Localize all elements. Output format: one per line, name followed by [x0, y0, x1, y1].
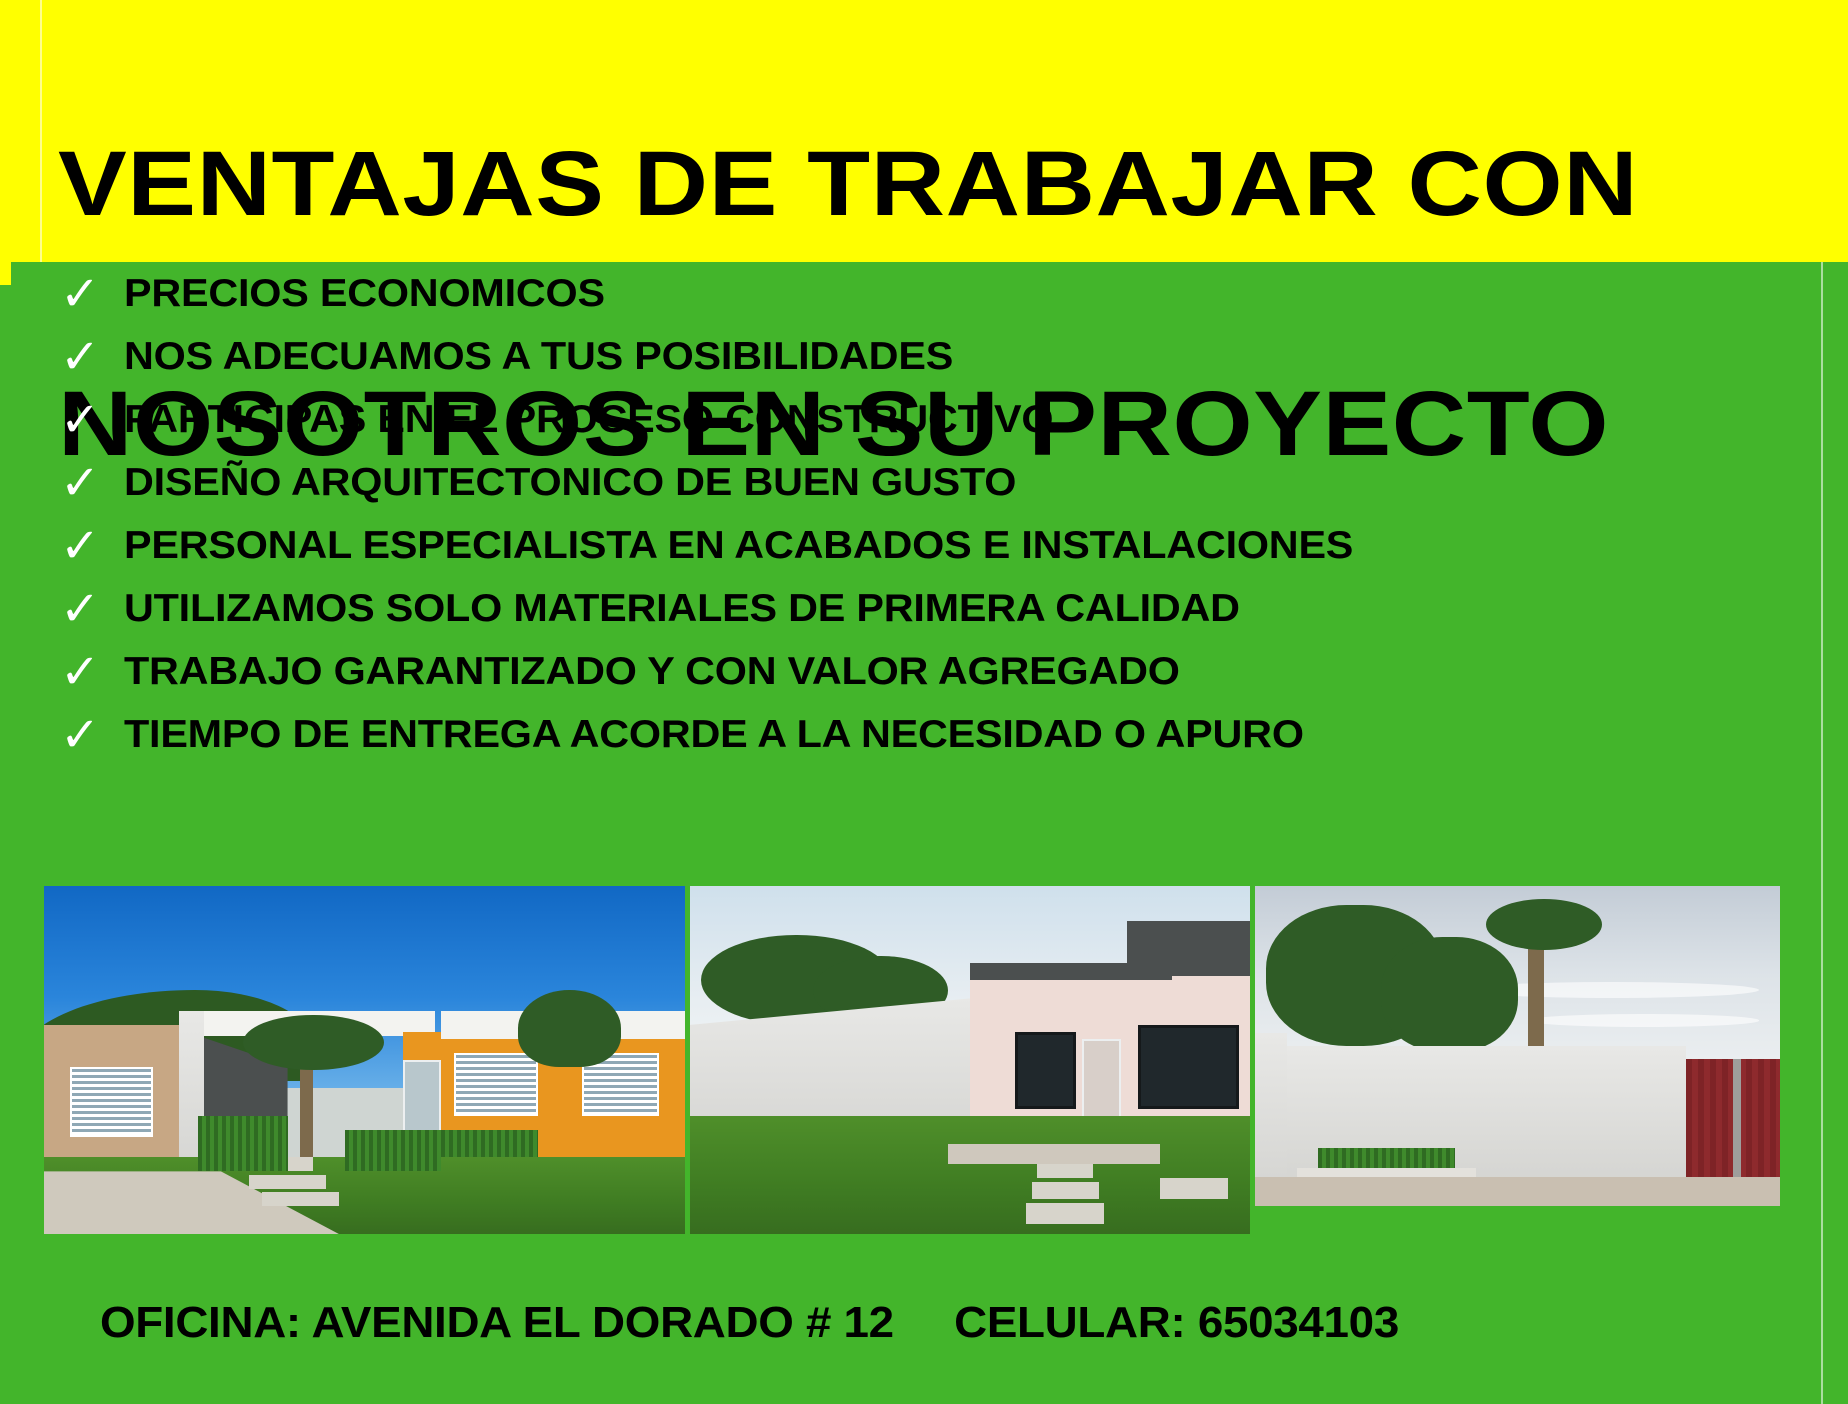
- slide-guide-line-left: [40, 0, 42, 262]
- gallery-photo-perimeter-wall-red-metal-gate: [1255, 886, 1780, 1206]
- benefit-label: PERSONAL ESPECIALISTA EN ACABADOS E INST…: [124, 524, 1353, 568]
- list-item: ✓ PRECIOS ECONOMICOS: [60, 266, 578, 322]
- list-item: ✓ DISEÑO ARQUITECTONICO DE BUEN GUSTO: [60, 455, 966, 511]
- page-title-line-1: VENTAJAS DE TRABAJAR CON: [58, 124, 1848, 244]
- benefits-list: ✓ PRECIOS ECONOMICOS ✓ NOS ADECUAMOS A T…: [0, 262, 1848, 862]
- benefit-label: TIEMPO DE ENTREGA ACORDE A LA NECESIDAD …: [124, 713, 1304, 757]
- check-icon: ✓: [60, 648, 106, 696]
- check-icon: ✓: [60, 396, 106, 444]
- list-item: ✓ UTILIZAMOS SOLO MATERIALES DE PRIMERA …: [60, 581, 1177, 637]
- list-item: ✓ TIEMPO DE ENTREGA ACORDE A LA NECESIDA…: [60, 707, 1237, 763]
- list-item: ✓ TRABAJO GARANTIZADO Y CON VALOR AGREGA…: [60, 644, 1120, 700]
- list-item: ✓ PARTICIPAS EN EL PROCESO CONSTRUCTIVO: [60, 392, 1001, 448]
- office-address: OFICINA: AVENIDA EL DORADO # 12: [100, 1297, 894, 1349]
- advertisement-poster: VENTAJAS DE TRABAJAR CON NOSOTROS EN SU …: [0, 0, 1848, 1404]
- benefit-label: PRECIOS ECONOMICOS: [124, 272, 605, 316]
- benefit-label: UTILIZAMOS SOLO MATERIALES DE PRIMERA CA…: [124, 587, 1240, 631]
- check-icon: ✓: [60, 270, 106, 318]
- gallery-photo-modern-house-carport-orange-accent: [44, 886, 685, 1234]
- check-icon: ✓: [60, 585, 106, 633]
- mobile-phone: CELULAR: 65034103: [954, 1297, 1399, 1349]
- benefit-label: PARTICIPAS EN EL PROCESO CONSTRUCTIVO: [124, 398, 1053, 442]
- gallery-photo-white-house-lawn-stepping-stones: [690, 886, 1250, 1234]
- footer-contact: OFICINA: AVENIDA EL DORADO # 12 CELULAR:…: [0, 1288, 1848, 1358]
- benefit-label: DISEÑO ARQUITECTONICO DE BUEN GUSTO: [124, 461, 1016, 505]
- slide-guide-line-right: [1821, 262, 1823, 1404]
- check-icon: ✓: [60, 711, 106, 759]
- check-icon: ✓: [60, 522, 106, 570]
- check-icon: ✓: [60, 459, 106, 507]
- list-item: ✓ PERSONAL ESPECIALISTA EN ACABADOS E IN…: [60, 518, 1284, 574]
- list-item: ✓ NOS ADECUAMOS A TUS POSIBILIDADES: [60, 329, 906, 385]
- check-icon: ✓: [60, 333, 106, 381]
- benefit-label: NOS ADECUAMOS A TUS POSIBILIDADES: [124, 335, 953, 379]
- photo-gallery: [0, 886, 1848, 1058]
- benefit-label: TRABAJO GARANTIZADO Y CON VALOR AGREGADO: [124, 650, 1180, 694]
- header-left-tab: [0, 255, 11, 285]
